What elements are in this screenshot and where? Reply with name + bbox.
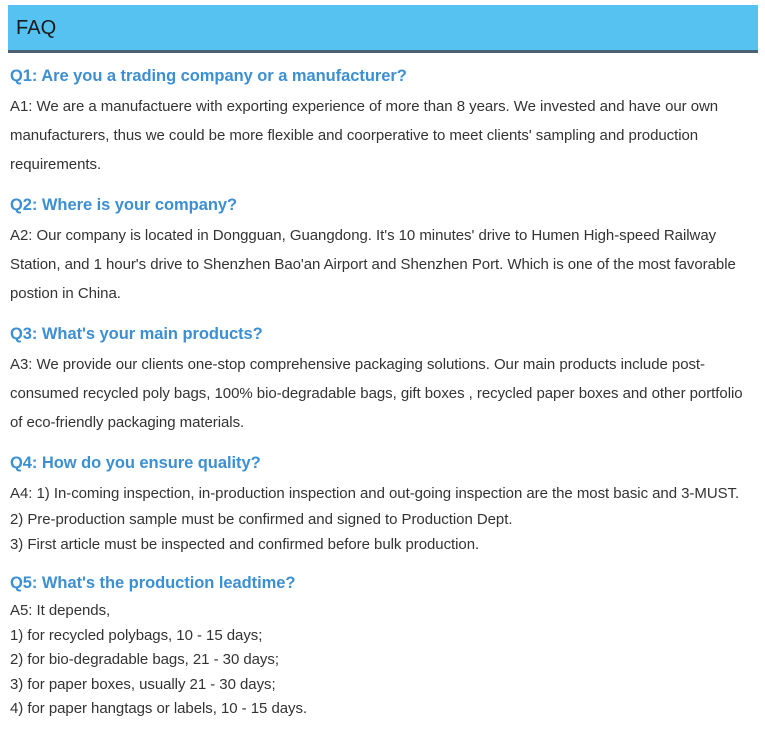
- faq-answer-line: 1) for recycled polybags, 10 - 15 days;: [10, 624, 752, 649]
- faq-question: Q3: What's your main products?: [10, 321, 752, 348]
- faq-answer: A5: It depends, 1) for recycled polybags…: [10, 599, 752, 722]
- faq-item: Q3: What's your main products? A3: We pr…: [10, 321, 752, 437]
- faq-item: Q1: Are you a trading company or a manuf…: [10, 63, 752, 179]
- faq-item: Q4: How do you ensure quality? A4: 1) In…: [10, 450, 752, 557]
- faq-answer-line: 4) for paper hangtags or labels, 10 - 15…: [10, 697, 752, 722]
- faq-answer: A1: We are a manufactuere with exporting…: [10, 92, 752, 179]
- faq-question: Q4: How do you ensure quality?: [10, 450, 752, 477]
- faq-answer: A4: 1) In-coming inspection, in-producti…: [10, 479, 752, 557]
- faq-answer: A2: Our company is located in Dongguan, …: [10, 221, 752, 308]
- faq-answer-line: 3) for paper boxes, usually 21 - 30 days…: [10, 673, 752, 698]
- faq-answer-line: 2) for bio-degradable bags, 21 - 30 days…: [10, 648, 752, 673]
- faq-question: Q2: Where is your company?: [10, 192, 752, 219]
- faq-answer-line: 2) Pre-production sample must be confirm…: [10, 508, 752, 533]
- faq-banner: FAQ: [8, 5, 758, 53]
- faq-answer-line: A5: It depends,: [10, 599, 752, 624]
- faq-answer-line: 3) First article must be inspected and c…: [10, 533, 752, 558]
- page-title: FAQ: [8, 18, 56, 38]
- faq-answer-line: A4: 1) In-coming inspection, in-producti…: [10, 479, 752, 508]
- faq-question: Q5: What's the production leadtime?: [10, 570, 752, 597]
- faq-answer: A3: We provide our clients one-stop comp…: [10, 350, 752, 437]
- faq-item: Q2: Where is your company? A2: Our compa…: [10, 192, 752, 308]
- faq-page: FAQ Q1: Are you a trading company or a m…: [0, 0, 765, 748]
- faq-item: Q5: What's the production leadtime? A5: …: [10, 570, 752, 722]
- faq-question: Q1: Are you a trading company or a manuf…: [10, 63, 752, 90]
- faq-list: Q1: Are you a trading company or a manuf…: [10, 63, 752, 722]
